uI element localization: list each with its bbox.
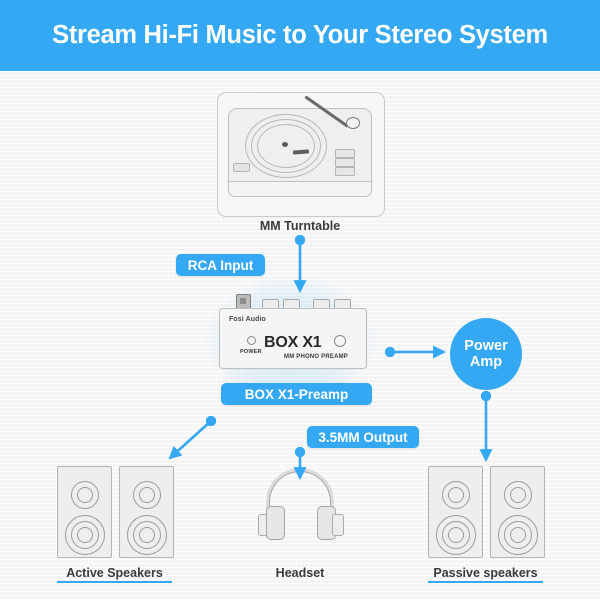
preamp-brand-label: Fosi Audio: [229, 316, 266, 323]
preamp-power-label: POWER: [240, 349, 262, 355]
header-banner: Stream Hi-Fi Music to Your Stereo System: [0, 0, 600, 71]
tweeter-inner-ring: [139, 487, 155, 503]
passive-speaker-left: [428, 466, 483, 558]
woofer-inner-ring: [139, 527, 155, 543]
passive-speakers-caption: Passive speakers: [428, 566, 543, 583]
headset-earcup-left: [266, 506, 285, 540]
turntable-button-2: [335, 158, 355, 167]
preamp-dc-power-jack-inner: [240, 298, 246, 304]
turntable-button-1: [335, 149, 355, 158]
power-amp-line2: Amp: [470, 354, 502, 370]
headset-illustration: [258, 468, 342, 540]
preamp-model-label: BOX X1: [264, 334, 322, 352]
preamp-device: Fosi Audio POWER BOX X1 MM PHONO PREAMP: [219, 308, 367, 369]
passive-speaker-right: [490, 466, 545, 558]
power-amp-node[interactable]: Power Amp: [450, 318, 522, 390]
turntable-switch: [233, 163, 250, 172]
power-led-icon: [247, 336, 256, 345]
headset-caption: Headset: [250, 566, 350, 580]
arrow-preamp-to-active-speakers: [170, 421, 211, 458]
headset-pad-right: [332, 514, 344, 536]
tweeter-inner-ring: [77, 487, 93, 503]
turntable-caption: MM Turntable: [217, 219, 383, 233]
page-title: Stream Hi-Fi Music to Your Stereo System: [52, 21, 548, 50]
turntable-illustration: [217, 92, 385, 217]
tweeter-inner-ring: [510, 487, 526, 503]
turntable-button-3: [335, 167, 355, 176]
active-speaker-right: [119, 466, 174, 558]
turntable-spindle: [282, 142, 288, 147]
infographic-page: Stream Hi-Fi Music to Your Stereo System…: [0, 0, 600, 600]
preamp-subtitle-label: MM PHONO PREAMP: [284, 354, 348, 360]
label-box-preamp[interactable]: BOX X1-Preamp: [221, 383, 372, 405]
turntable-base: [228, 181, 372, 197]
active-speaker-left: [57, 466, 112, 558]
woofer-inner-ring: [510, 527, 526, 543]
label-rca-input[interactable]: RCA Input: [176, 254, 265, 276]
preamp-gain-knob[interactable]: [334, 335, 346, 347]
tweeter-inner-ring: [448, 487, 464, 503]
woofer-inner-ring: [77, 527, 93, 543]
label-35mm-output[interactable]: 3.5MM Output: [307, 426, 419, 448]
power-amp-line1: Power: [464, 338, 508, 354]
tonearm-pivot: [346, 117, 360, 129]
preamp-dc-power-jack: [236, 294, 251, 309]
active-speakers-caption: Active Speakers: [57, 566, 172, 583]
woofer-inner-ring: [448, 527, 464, 543]
